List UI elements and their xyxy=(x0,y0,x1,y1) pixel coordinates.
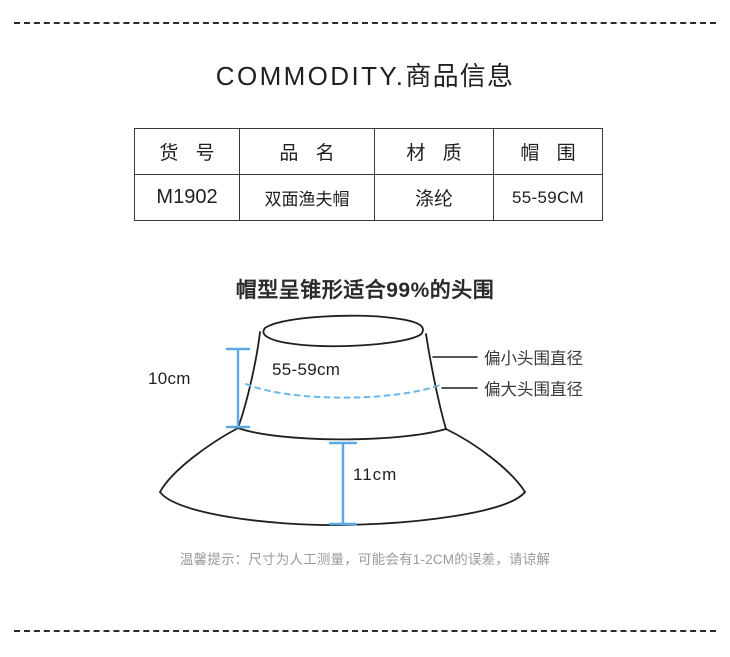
page-title-cjk: 商品信息 xyxy=(405,61,514,91)
hat-diagram: 10cm 55-59cm 11cm 偏小头围直径 偏大头围直径 xyxy=(150,312,580,527)
table-header-size: 帽 围 xyxy=(494,129,603,175)
circumference-dashed-line xyxy=(246,384,440,398)
page-title-latin: COMMODITY. xyxy=(216,61,406,91)
table-header-row: 货 号 品 名 材 质 帽 围 xyxy=(135,129,603,175)
divider-bottom xyxy=(14,630,716,632)
table-header-material: 材 质 xyxy=(375,129,494,175)
table-header-name: 品 名 xyxy=(240,129,375,175)
product-info-page: COMMODITY.商品信息 货 号 品 名 材 质 帽 围 M1902 双面渔… xyxy=(0,0,730,657)
table-cell-size: 55-59CM xyxy=(494,175,603,221)
measurement-note: 温馨提示：尺寸为人工测量，可能会有1-2CM的误差，请谅解 xyxy=(0,548,730,568)
circumference-label: 55-59cm xyxy=(272,360,340,380)
small-head-diameter-label: 偏小头围直径 xyxy=(484,345,583,369)
table-cell-code: M1902 xyxy=(135,175,240,221)
large-head-diameter-label: 偏大头围直径 xyxy=(484,376,583,400)
spec-table: 货 号 品 名 材 质 帽 围 M1902 双面渔夫帽 涤纶 55-59CM xyxy=(134,128,603,221)
crown-height-label: 10cm xyxy=(148,369,191,389)
table-row: M1902 双面渔夫帽 涤纶 55-59CM xyxy=(135,175,603,221)
page-title: COMMODITY.商品信息 xyxy=(0,56,730,93)
brim-depth-label: 11cm xyxy=(353,465,397,485)
callout-leader-lines xyxy=(433,357,477,388)
table-cell-material: 涤纶 xyxy=(375,175,494,221)
table-cell-name: 双面渔夫帽 xyxy=(240,175,375,221)
table-header-code: 货 号 xyxy=(135,129,240,175)
hat-section-heading: 帽型呈锥形适合99%的头围 xyxy=(0,274,730,304)
divider-top xyxy=(14,22,716,24)
spec-table-container: 货 号 品 名 材 质 帽 围 M1902 双面渔夫帽 涤纶 55-59CM xyxy=(134,128,598,221)
crown-height-bracket xyxy=(227,349,249,427)
